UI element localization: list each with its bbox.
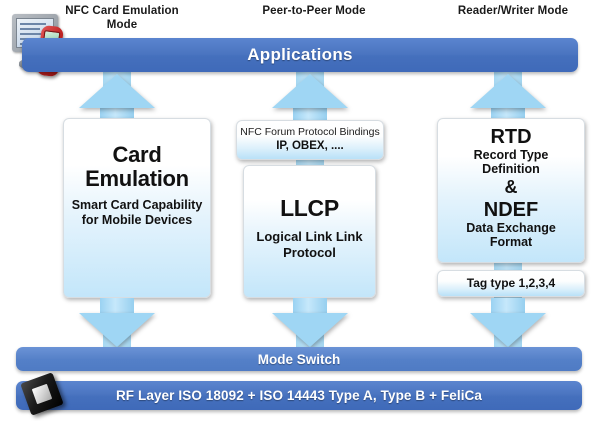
arrow-down-stem-peer-to-peer (293, 298, 327, 314)
rtd-subtitle-line2: Definition (438, 162, 584, 176)
rtd-subtitle-line1: Record Type (438, 148, 584, 162)
screen-line (20, 28, 40, 30)
chip-inner-square (32, 384, 53, 405)
rf-layer-bar: RF Layer ISO 18092 + ISO 14443 Type A, T… (16, 381, 582, 410)
arrow-up-icon-reader-writer (470, 74, 546, 108)
rtd-ndef-box: RTD Record Type Definition & NDEF Data E… (437, 118, 585, 263)
card-emulation-box: Card Emulation Smart Card Capability for… (63, 118, 211, 298)
llcp-title: LLCP (244, 196, 375, 220)
card-emulation-title: Card Emulation (64, 143, 210, 191)
nfc-chip-icon (20, 372, 66, 418)
arrow-down-stem-reader-writer (491, 298, 525, 314)
nfc-architecture-diagram: NFC Card Emulation Mode Peer-to-Peer Mod… (0, 0, 600, 421)
applications-layer-bar: Applications (22, 38, 578, 72)
arrow-up-icon-card-emulation (79, 74, 155, 108)
protocol-bindings-line2: IP, OBEX, .... (237, 139, 383, 153)
arrow-up-stem-peer-to-peer (293, 107, 327, 121)
tag-type-label: Tag type 1,2,3,4 (438, 276, 584, 290)
protocol-bindings-line1: NFC Forum Protocol Bindings (237, 126, 383, 139)
mode-switch-bar: Mode Switch (16, 347, 582, 371)
mode-label-reader-writer: Reader/Writer Mode (440, 4, 586, 18)
arrow-up-icon-peer-to-peer (272, 74, 348, 108)
screen-line (20, 23, 46, 25)
arrow-down-icon-peer-to-peer (272, 313, 348, 347)
card-emulation-subtitle: Smart Card Capability for Mobile Devices (64, 198, 210, 228)
protocol-bindings-box: NFC Forum Protocol Bindings IP, OBEX, ..… (236, 120, 384, 160)
mode-label-card-emulation: NFC Card Emulation Mode (62, 4, 182, 32)
arrow-down-icon-reader-writer (470, 313, 546, 347)
chip-outer-body (20, 372, 64, 416)
llcp-box: LLCP Logical Link Link Protocol (243, 165, 376, 298)
tag-type-box: Tag type 1,2,3,4 (437, 270, 585, 297)
arrow-down-icon-card-emulation (79, 313, 155, 347)
llcp-subtitle: Logical Link Link Protocol (244, 229, 375, 261)
ndef-title: NDEF (438, 199, 584, 221)
rtd-title: RTD (438, 127, 584, 148)
ampersand-separator: & (438, 177, 584, 198)
arrow-down-stem-card-emulation (100, 298, 134, 314)
ndef-subtitle-line2: Format (438, 235, 584, 249)
mode-label-peer-to-peer: Peer-to-Peer Mode (248, 4, 380, 18)
ndef-subtitle-line1: Data Exchange (438, 221, 584, 235)
